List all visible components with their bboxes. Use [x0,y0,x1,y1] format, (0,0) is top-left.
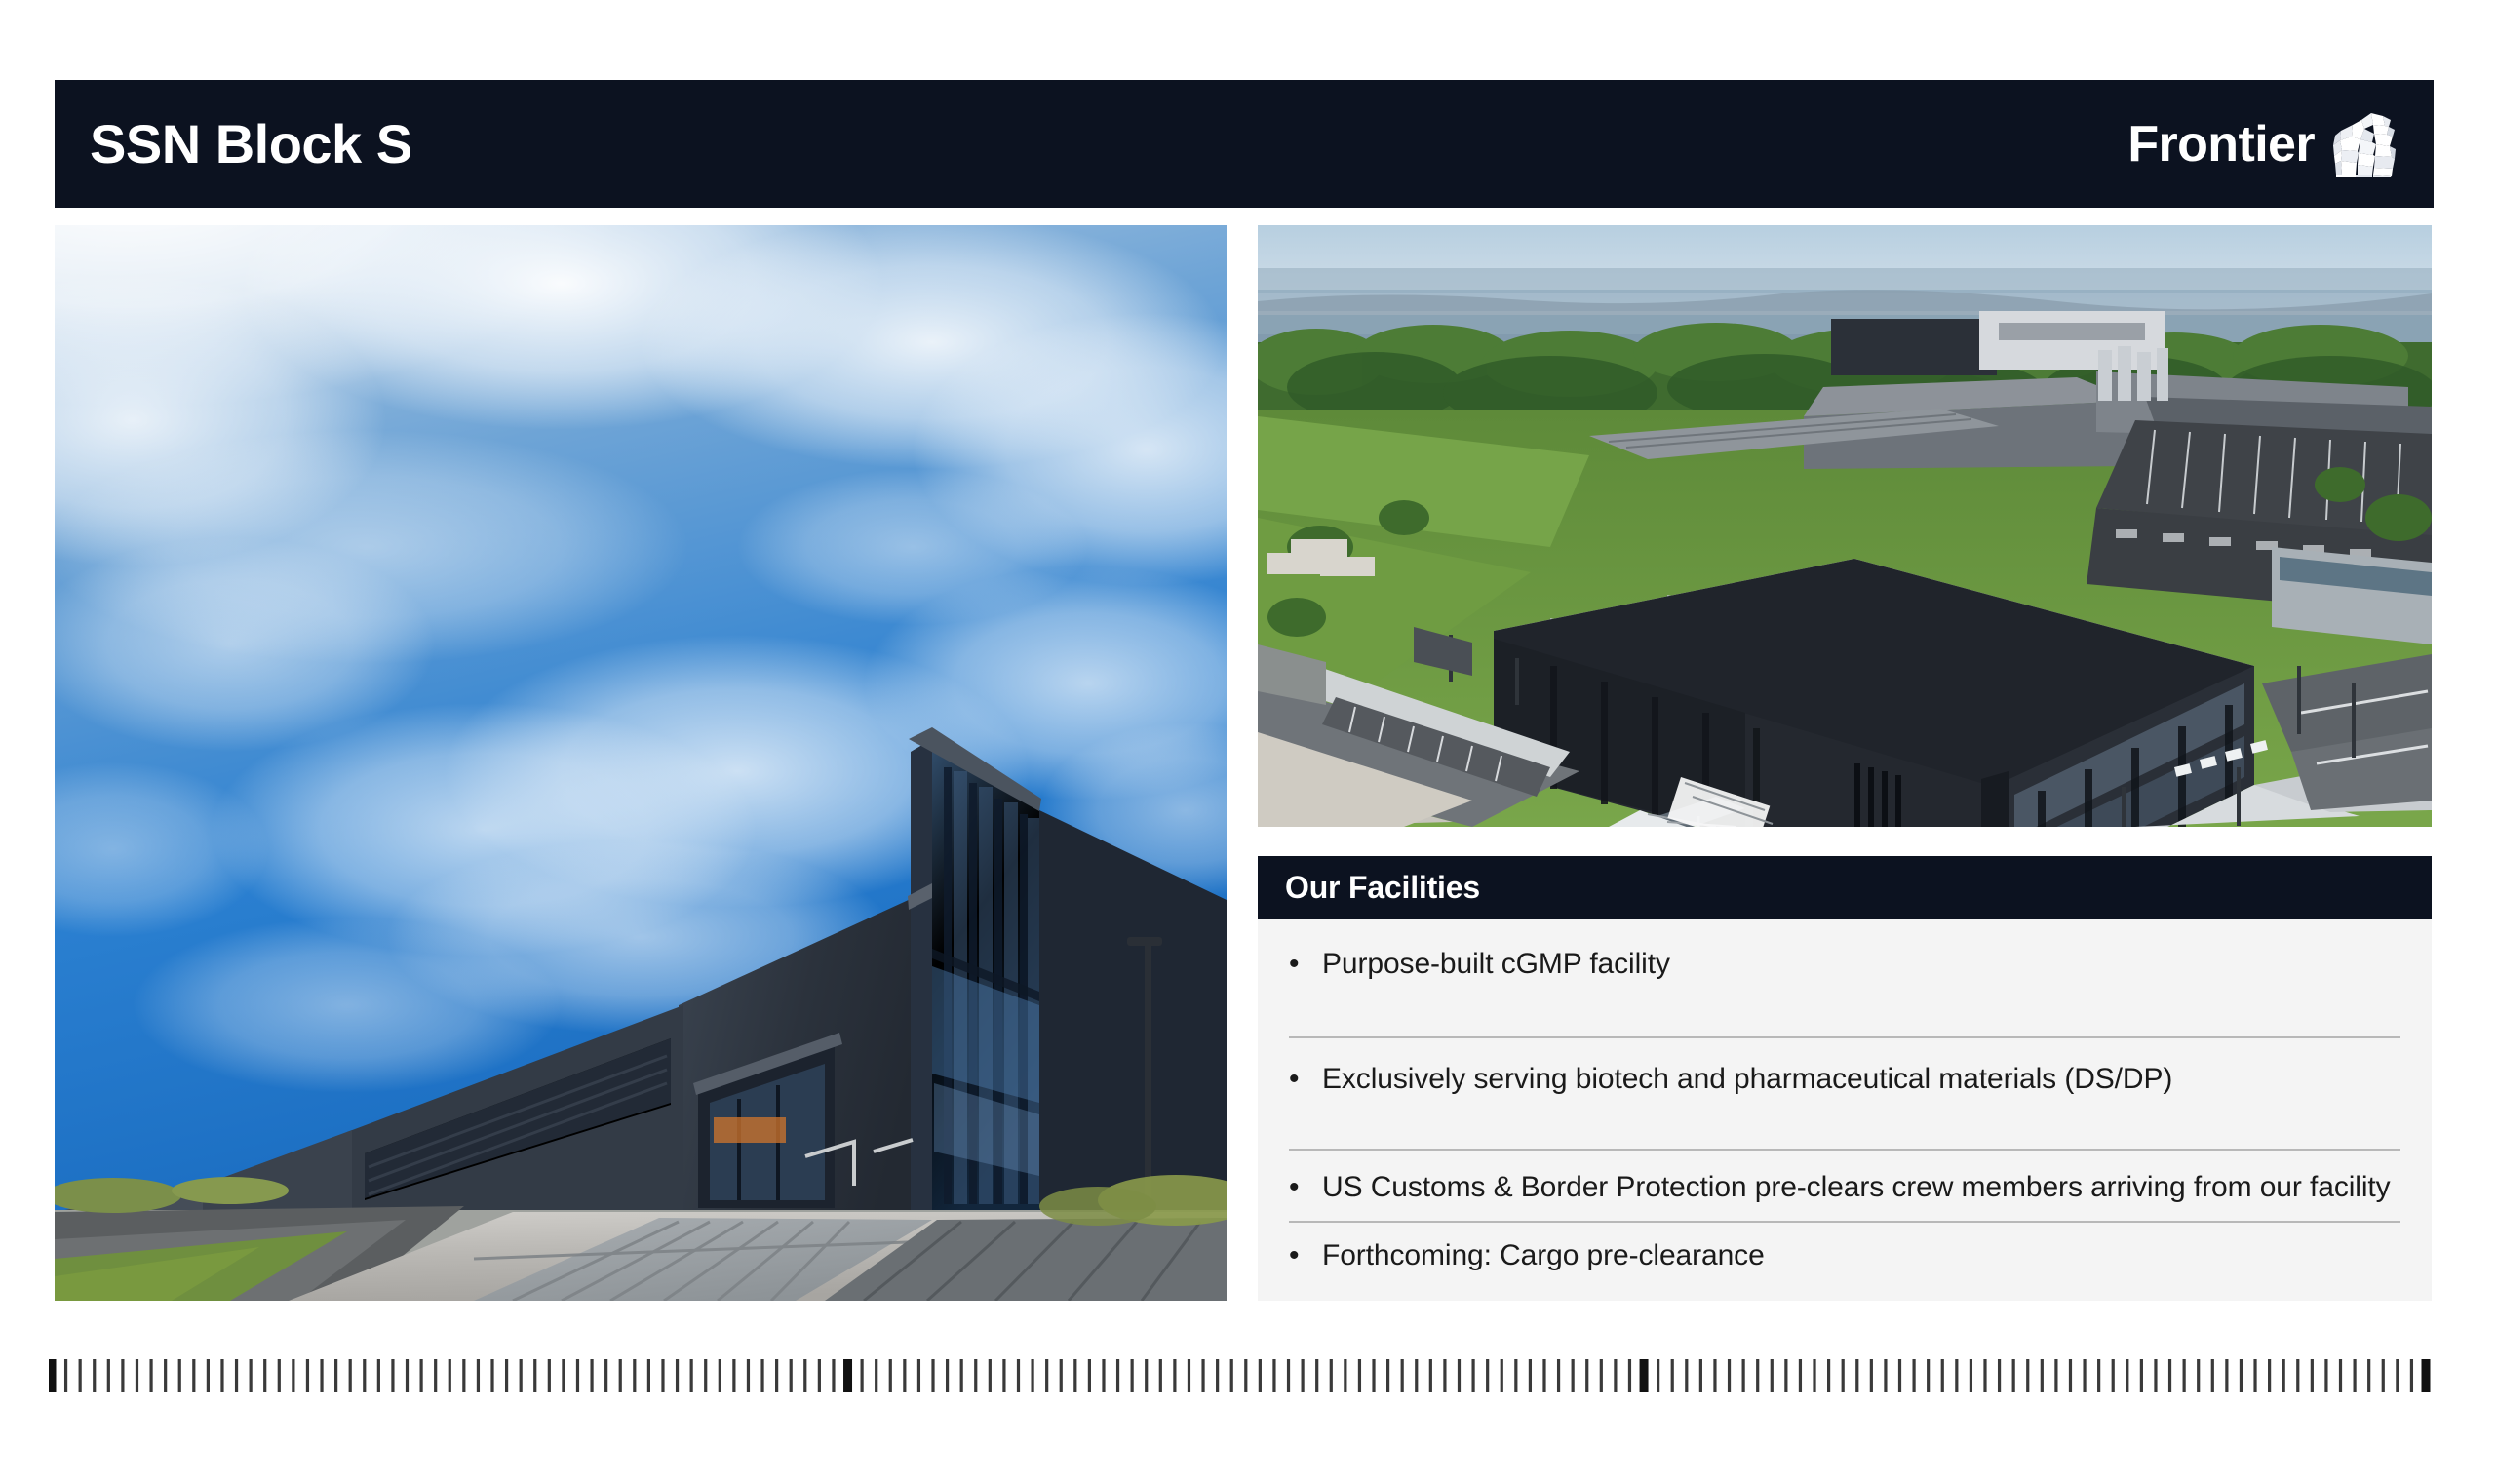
facility-text: Exclusively serving biotech and pharmace… [1322,1060,2402,1099]
spacer [1287,1098,2402,1149]
bullet-glyph: • [1289,1168,1322,1207]
list-item: • Purpose-built cGMP facility [1287,945,2402,984]
list-item: • US Customs & Border Protection pre-cle… [1287,1168,2402,1207]
slide-canvas: SSN Block S Frontier [0,0,2496,1484]
brand-lockup: Frontier [2127,110,2400,178]
aerial-site-photo [1258,225,2432,827]
facilities-panel-title: Our Facilities [1285,870,1480,906]
polar-bear-icon [2328,110,2400,178]
spacer [1287,1223,2402,1236]
building-exterior-photo [55,225,1227,1301]
bullet-glyph: • [1289,945,1322,984]
list-item: • Exclusively serving biotech and pharma… [1287,1060,2402,1099]
spacer [1287,1207,2402,1221]
facility-text: Forthcoming: Cargo pre-clearance [1322,1236,2402,1275]
spacer [1287,1038,2402,1060]
slide-header-bar: SSN Block S Frontier [55,80,2434,208]
brand-wordmark: Frontier [2127,119,2315,170]
bullet-glyph: • [1289,1060,1322,1099]
facilities-panel-header: Our Facilities [1258,856,2432,919]
spacer [1287,1151,2402,1168]
bullet-glyph: • [1289,1236,1322,1275]
list-item: • Forthcoming: Cargo pre-clearance [1287,1236,2402,1275]
facility-text: Purpose-built cGMP facility [1322,945,2402,984]
tick-ruler [49,1359,2433,1392]
facilities-list: • Purpose-built cGMP facility • Exclusiv… [1258,919,2432,1301]
facilities-panel: Our Facilities • Purpose-built cGMP faci… [1258,856,2432,1301]
facility-text: US Customs & Border Protection pre-clear… [1322,1168,2402,1207]
page-title: SSN Block S [90,117,412,172]
spacer [1287,984,2402,1036]
